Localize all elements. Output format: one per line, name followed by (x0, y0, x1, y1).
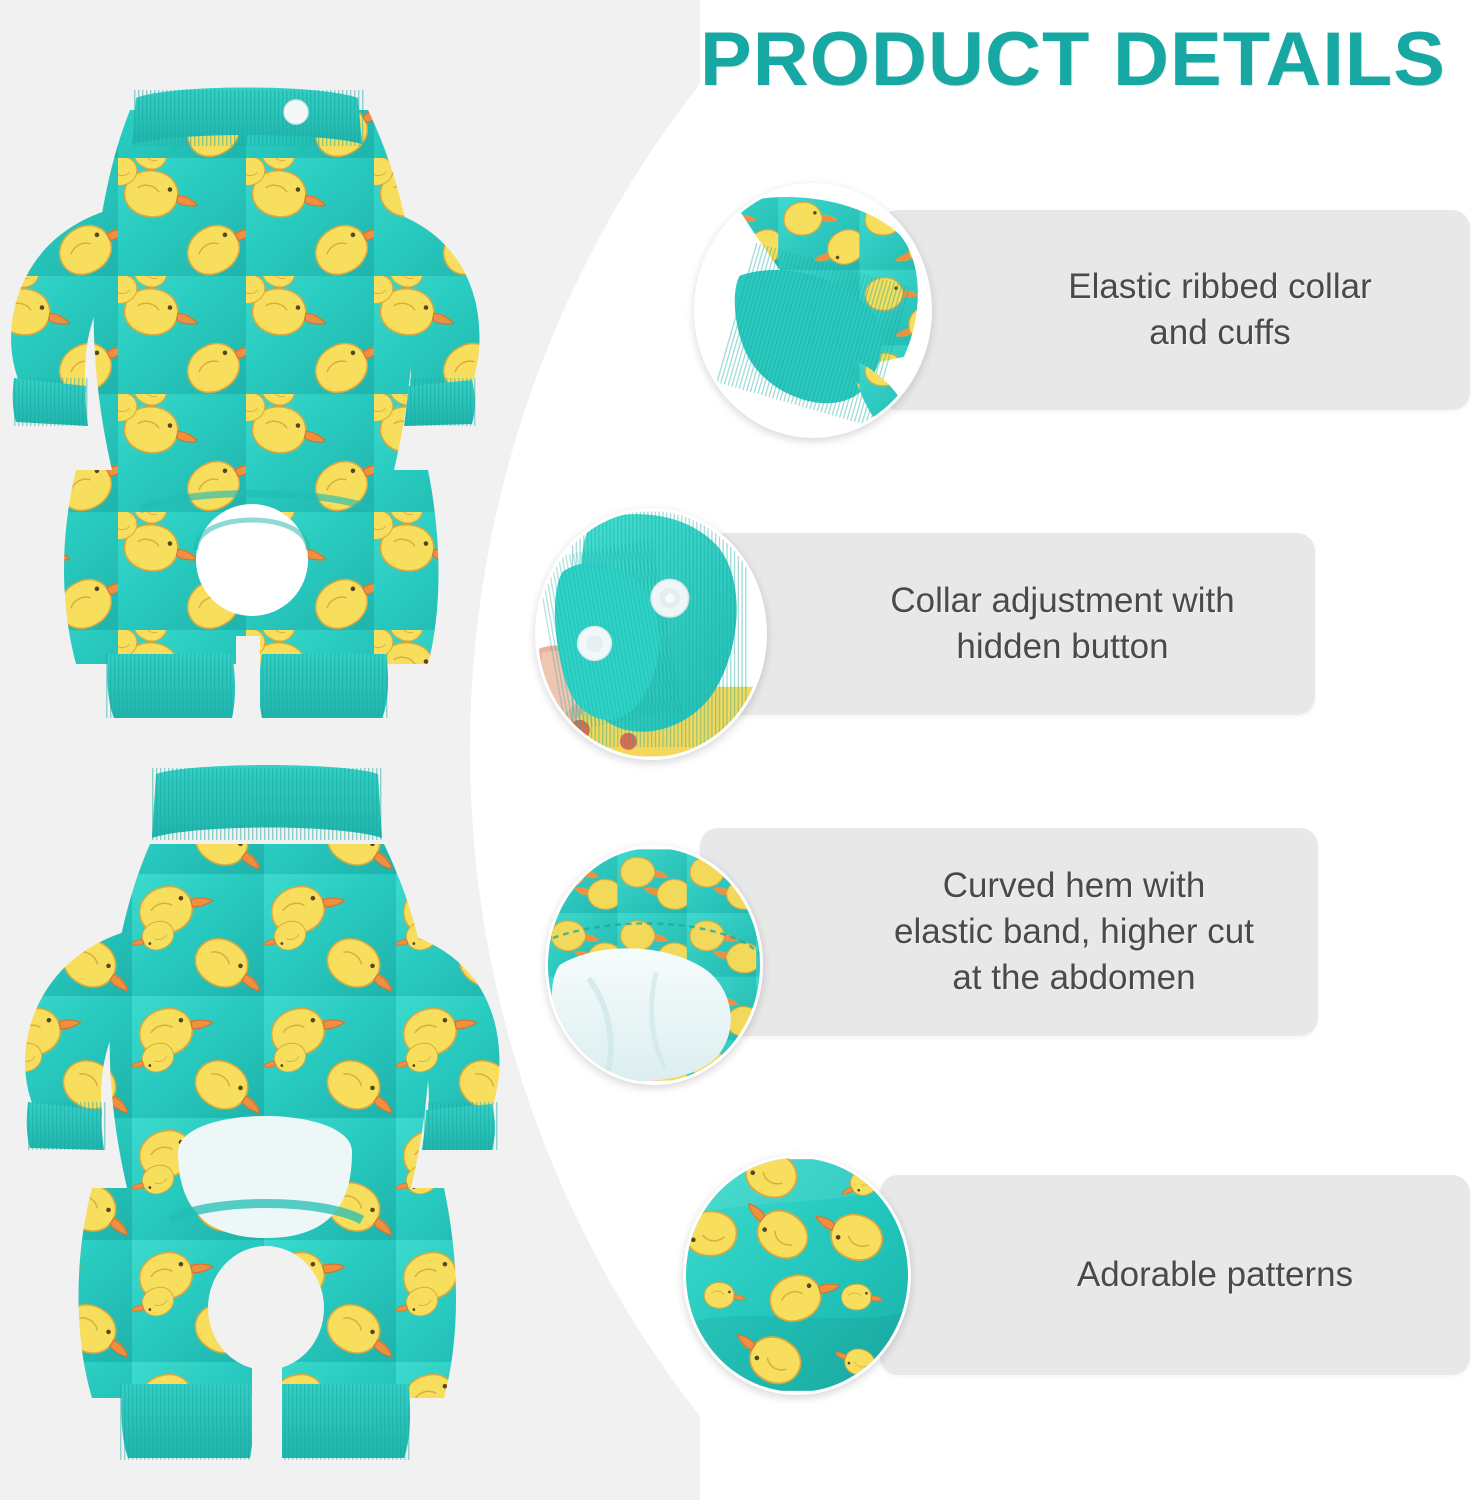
product-image-front-view (0, 752, 530, 1482)
detail-caption-3: Curved hem with elastic band, higher cut… (764, 863, 1254, 1001)
detail-caption-1: Elastic ribbed collar and cuffs (978, 264, 1371, 356)
product-image-back-view (0, 40, 510, 720)
detail-panel-4: Adorable patterns (880, 1175, 1470, 1375)
detail-panel-1: Elastic ribbed collar and cuffs (880, 210, 1470, 410)
infographic-root: PRODUCT DETAILS (0, 0, 1475, 1500)
detail-image-ribbed-cuff-closeup (694, 183, 932, 438)
detail-image-hidden-button-closeup (535, 508, 767, 760)
detail-caption-2: Collar adjustment with hidden button (780, 578, 1234, 670)
page-title: PRODUCT DETAILS (700, 14, 1475, 106)
detail-panel-2: Collar adjustment with hidden button (700, 533, 1315, 715)
detail-panel-3: Curved hem with elastic band, higher cut… (700, 828, 1318, 1036)
detail-image-duck-pattern-closeup (683, 1155, 911, 1395)
detail-image-curved-hem-closeup (545, 845, 763, 1085)
detail-caption-4: Adorable patterns (997, 1252, 1353, 1298)
